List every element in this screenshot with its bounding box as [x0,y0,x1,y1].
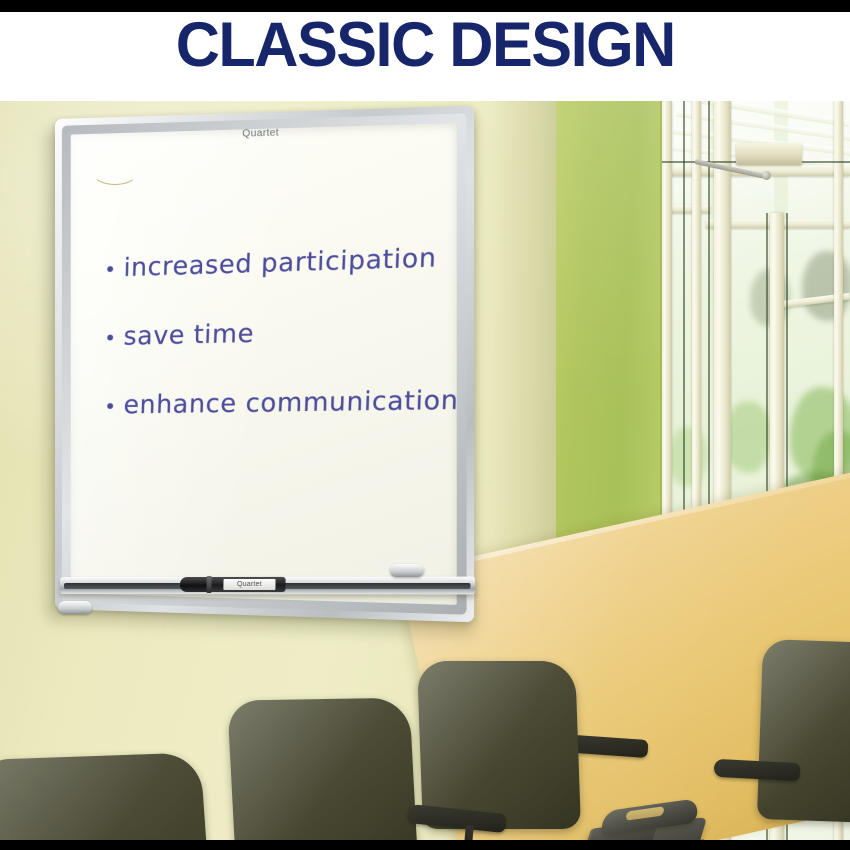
list-item: • enhance communication [104,387,457,418]
tray-end-cap-left [58,601,92,614]
note-text: enhance communication [123,387,457,417]
page-title: CLASSIC DESIGN [175,14,674,76]
bullet-icon: • [104,396,117,416]
chair-highlight [0,752,214,840]
chair-backrest [757,639,850,823]
marker-cap [180,577,210,592]
whiteboard-notes-list: • increased participation • save time • … [104,247,456,462]
chair-backrest [0,752,214,840]
conference-phone[interactable] [582,797,710,840]
header-band: CLASSIC DESIGN [0,12,850,101]
whiteboard[interactable]: Quartet • increased participation • save… [55,119,460,609]
chair-backrest [417,661,581,829]
phone-cord [92,159,138,185]
chair-highlight [417,661,581,829]
list-item: • save time [104,315,457,349]
bottom-black-rule [0,840,850,850]
foliage-outside [724,401,772,473]
dry-erase-marker[interactable]: Quartet [180,577,286,592]
whiteboard-writing-surface[interactable]: • increased participation • save time • … [71,123,457,605]
bullet-icon: • [104,328,117,348]
note-text: increased participation [123,244,437,280]
office-chair[interactable] [760,641,850,840]
foliage-outside [668,427,708,487]
bullet-icon: • [104,259,117,280]
marker-brand-label: Quartet [223,579,275,590]
list-item: • increased participation [104,244,457,281]
whiteboard-brand-label: Quartet [205,126,317,146]
chair-highlight [227,698,419,840]
note-text: save time [123,320,254,348]
marker-ring [206,576,211,593]
door-closer-pivot [762,171,771,180]
office-chair[interactable] [0,756,222,840]
door-closer-body [736,143,802,165]
tray-end-cap-right [390,564,424,577]
screenshot-root: CLASSIC DESIGN [0,0,850,850]
chair-backrest [227,698,419,840]
conference-room-photo: Quartet • increased participation • save… [0,101,850,840]
top-black-rule [0,0,850,12]
whiteboard-marker-tray[interactable]: Quartet [60,553,480,625]
chair-highlight [757,639,850,823]
